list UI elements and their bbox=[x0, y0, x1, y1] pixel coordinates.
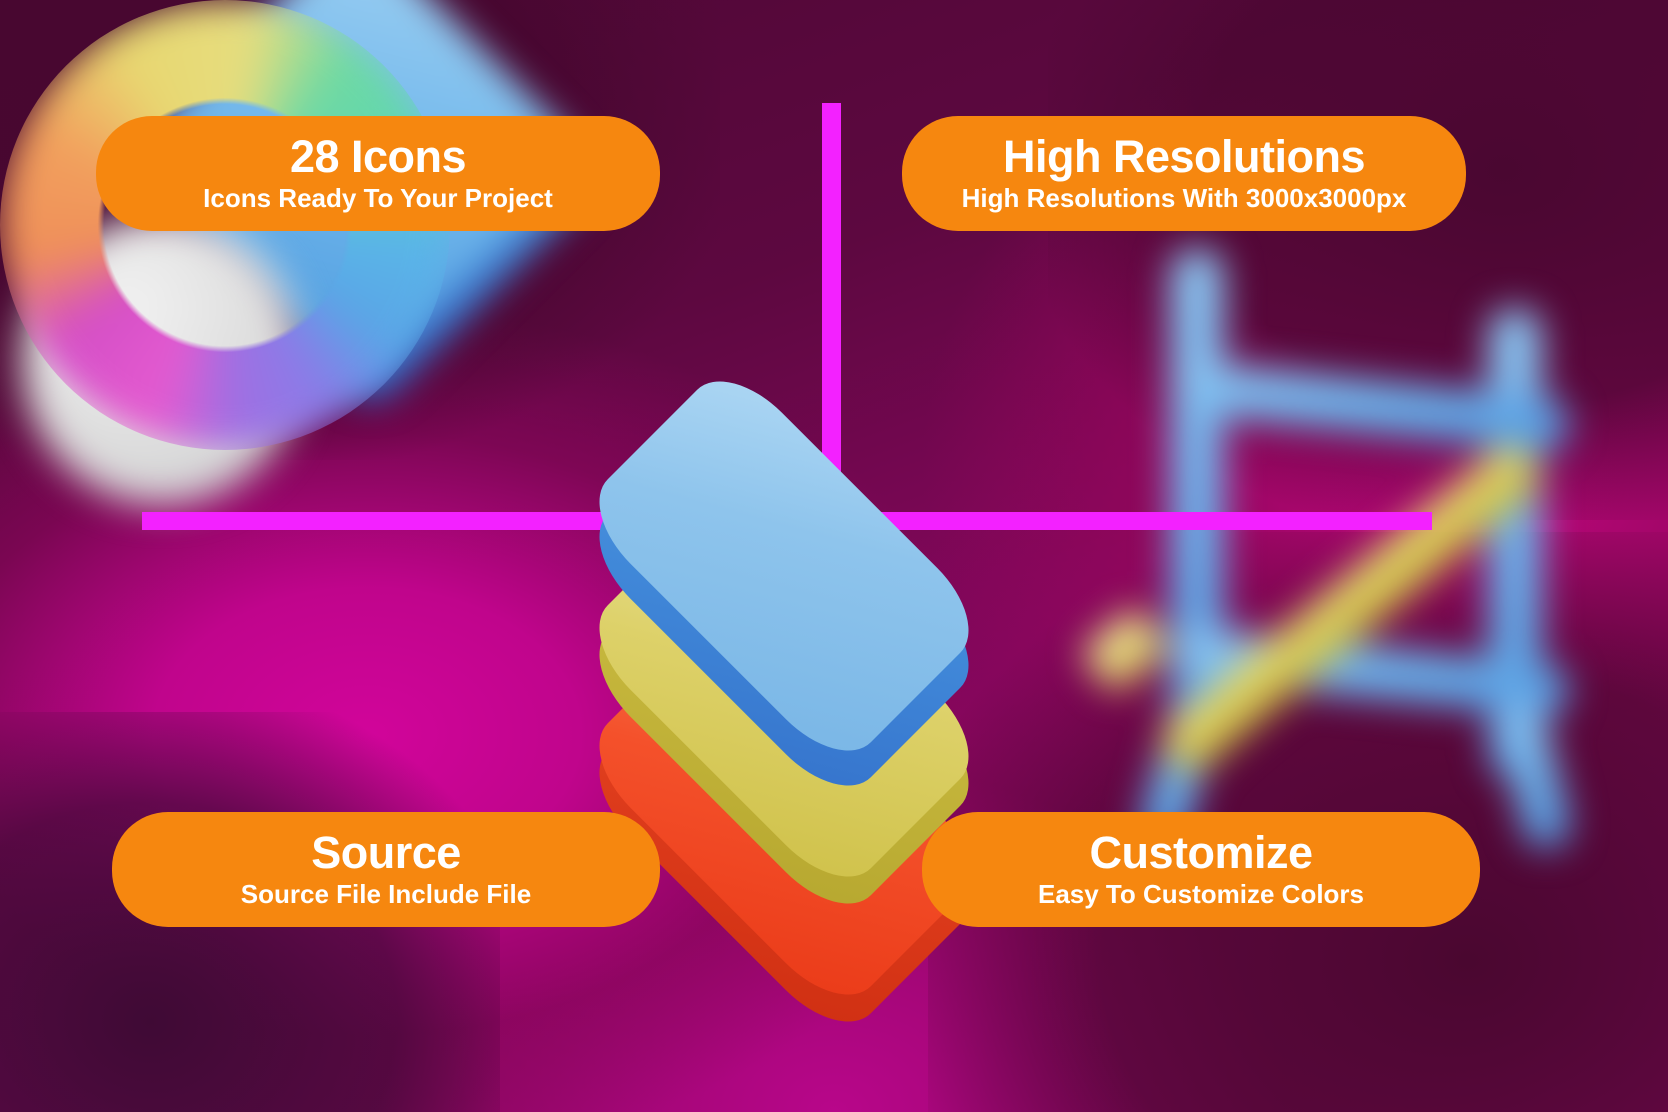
promo-canvas: 28 Icons Icons Ready To Your Project Hig… bbox=[0, 0, 1668, 1112]
pencil-icon-tip bbox=[1079, 605, 1172, 695]
badge-high-resolutions-subtitle: High Resolutions With 3000x3000px bbox=[962, 185, 1407, 212]
badge-customize-title: Customize bbox=[1089, 830, 1312, 875]
badge-customize[interactable]: Customize Easy To Customize Colors bbox=[922, 812, 1480, 927]
badge-icons-subtitle: Icons Ready To Your Project bbox=[203, 185, 553, 212]
layers-stack-icon bbox=[514, 258, 1054, 788]
badge-icons[interactable]: 28 Icons Icons Ready To Your Project bbox=[96, 116, 660, 231]
badge-source-title: Source bbox=[311, 830, 461, 875]
badge-high-resolutions-title: High Resolutions bbox=[1003, 134, 1365, 179]
badge-customize-subtitle: Easy To Customize Colors bbox=[1038, 881, 1364, 908]
badge-source[interactable]: Source Source File Include File bbox=[112, 812, 660, 927]
easel-icon bbox=[1058, 230, 1668, 790]
badge-icons-title: 28 Icons bbox=[290, 134, 466, 179]
badge-source-subtitle: Source File Include File bbox=[241, 881, 531, 908]
badge-high-resolutions[interactable]: High Resolutions High Resolutions With 3… bbox=[902, 116, 1466, 231]
